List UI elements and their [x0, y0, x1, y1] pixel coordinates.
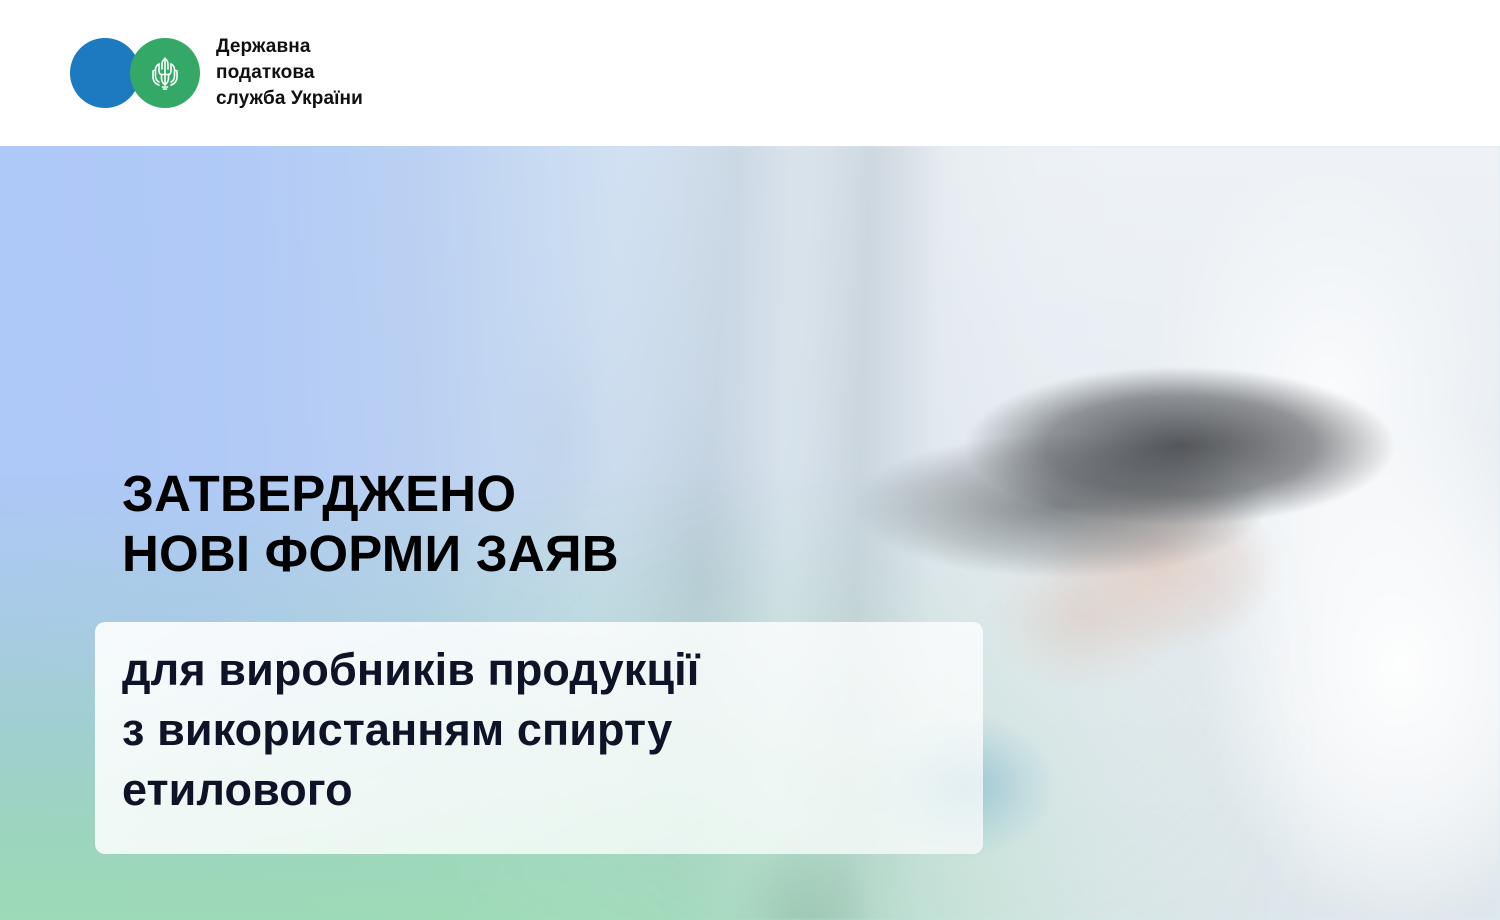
- tryzub-icon: [149, 54, 181, 92]
- headline: ЗАТВЕРДЖЕНО НОВІ ФОРМИ ЗАЯВ: [122, 464, 1022, 584]
- organization-logo[interactable]: Державна податкова служба України: [70, 34, 363, 111]
- green-circle-icon: [130, 38, 200, 108]
- hero-section: ЗАТВЕРДЖЕНО НОВІ ФОРМИ ЗАЯВ для виробник…: [0, 146, 1500, 920]
- announcement-banner: Державна податкова служба України ЗАТВЕР…: [0, 0, 1500, 920]
- subtitle: для виробників продукції з використанням…: [122, 640, 1002, 820]
- organization-name: Державна податкова служба України: [216, 34, 363, 111]
- logo-marks: [70, 38, 200, 108]
- site-header: Державна податкова служба України: [0, 0, 1500, 146]
